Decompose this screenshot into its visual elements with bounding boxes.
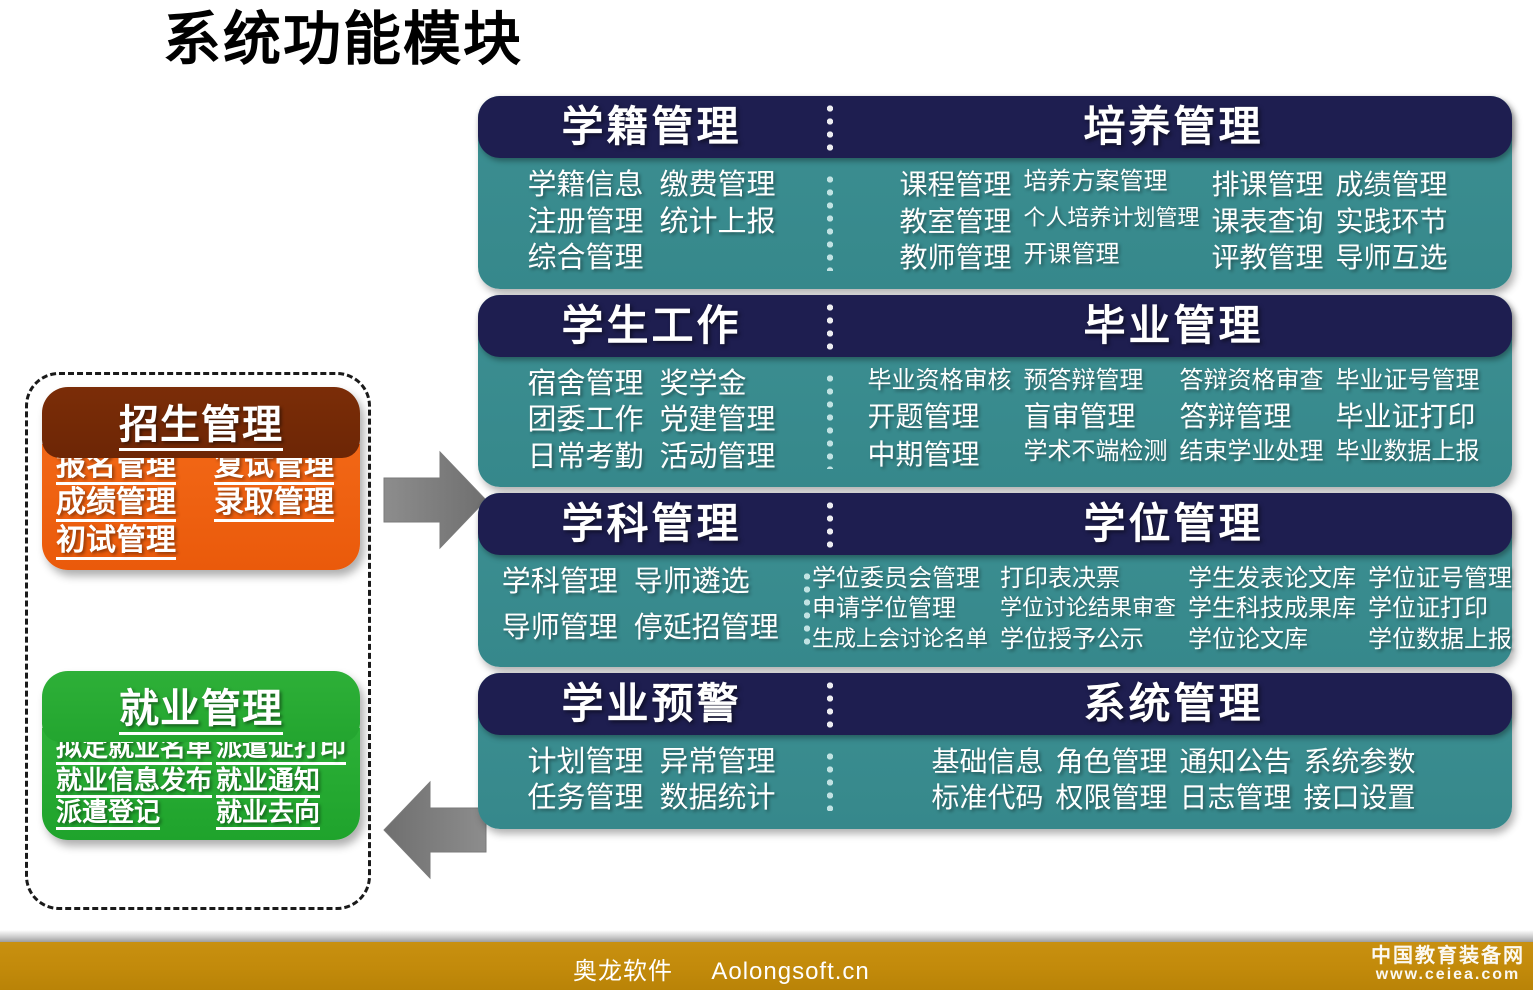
panel-body-left: 宿舍管理 奖学金 团委工作 党建管理 日常考勤 活动管理 [478,366,825,476]
module-item[interactable]: 答辩资格审查 [1180,366,1324,399]
panel-header-left[interactable]: 学科管理 [478,493,825,555]
panel-divider-dots [825,167,835,277]
module-item[interactable]: 学籍信息 [527,167,643,204]
panel-header: 学籍管理 培养管理 [478,96,1512,158]
module-item[interactable]: 学生科技成果库 [1188,594,1356,624]
module-item[interactable]: 学术不端检测 [1024,437,1168,475]
module-item[interactable]: 学位论文库 [1188,625,1356,655]
module-item[interactable]: 就业通知 [216,765,366,796]
panel-body-right: 毕业资格审核 预答辩管理 答辩资格审查 毕业证号管理 开题管理 盲审管理 答辩管… [835,366,1512,476]
module-item[interactable]: 综合管理 [527,240,643,277]
module-item[interactable]: 权限管理 [1055,780,1167,817]
panel-header: 学业预警 系统管理 [478,673,1512,735]
module-item[interactable]: 学生发表论文库 [1188,564,1356,594]
panel-body: 学籍信息 缴费管理 注册管理 统计上报 综合管理 课程管理 培养方案管理 排课管… [478,158,1512,289]
panel-row-2: 学生工作 毕业管理 宿舍管理 奖学金 团委工作 党建管理 日常考勤 活动管理 [478,295,1512,488]
module-item[interactable]: 毕业资格审核 [868,366,1012,399]
footer-company-en: Aolongsoft.cn [711,958,869,985]
left-modules-group: 招生管理 报名管理 复试管理 成绩管理 录取管理 初试管理 就业管理 拟 [25,372,371,910]
module-item[interactable]: 学位证号管理 [1368,564,1512,594]
panel-body-left: 计划管理 异常管理 任务管理 数据统计 [478,744,825,817]
module-box-recruit[interactable]: 招生管理 报名管理 复试管理 成绩管理 录取管理 初试管理 [42,387,360,570]
arrow-right-icon [382,448,488,552]
module-item[interactable]: 课表查询 [1212,204,1324,241]
panel-body-right: 基础信息 角色管理 通知公告 系统参数 标准代码 权限管理 日志管理 接口设置 [835,744,1512,817]
panel-row-1: 学籍管理 培养管理 学籍信息 缴费管理 注册管理 统计上报 综合管理 [478,96,1512,289]
watermark-en: www.ceiea.com [1371,967,1525,984]
panel-title-left: 学科管理 [561,503,741,545]
module-item[interactable]: 导师管理 [502,610,618,655]
module-item[interactable]: 宿舍管理 [527,366,643,403]
module-item[interactable]: 数据统计 [660,780,776,817]
panel-header: 学生工作 毕业管理 [478,295,1512,357]
panel-title-right: 学位管理 [1083,503,1263,545]
watermark: 中国教育装备网 www.ceiea.com [1371,946,1525,984]
panel-body: 学科管理 导师遴选 导师管理 停延招管理 学位委员会管理 打印表决票 学生发表论… [478,555,1512,667]
module-item[interactable]: 学位证打印 [1368,594,1512,624]
module-item[interactable]: 停延招管理 [634,610,779,655]
footer-company-cn: 奥龙软件 [573,959,673,985]
panel-divider-dots [825,366,835,476]
panel-title-left: 学籍管理 [561,106,741,148]
module-item[interactable]: 毕业数据上报 [1336,437,1480,475]
module-item[interactable]: 个人培养计划管理 [1023,204,1199,241]
module-item[interactable]: 学位委员会管理 [812,564,988,594]
module-item[interactable]: 标准代码 [931,780,1043,817]
module-item[interactable]: 学位授予公示 [1000,625,1176,655]
panel-title-right: 毕业管理 [1083,305,1263,347]
module-item[interactable]: 系统参数 [1304,744,1416,781]
module-item[interactable]: 实践环节 [1336,204,1448,241]
panel-divider-dots [825,673,835,735]
module-box-recruit-title: 招生管理 [42,387,360,458]
module-item[interactable]: 排课管理 [1212,167,1324,204]
panel-body-left: 学籍信息 缴费管理 注册管理 统计上报 综合管理 [478,167,825,277]
module-item[interactable]: 注册管理 [527,204,643,241]
module-item[interactable]: 导师互选 [1336,240,1448,277]
panel-body: 计划管理 异常管理 任务管理 数据统计 基础信息 角色管理 通知公告 系统参数 … [478,735,1512,829]
panel-title-right: 培养管理 [1083,106,1263,148]
module-box-employment[interactable]: 就业管理 拟定就业名单 派遣证打印 就业信息发布 就业通知 派遣登记 就业去向 [42,671,360,840]
module-item[interactable]: 缴费管理 [660,167,776,204]
module-item[interactable]: 答辩管理 [1180,399,1324,437]
module-item[interactable]: 培养方案管理 [1023,167,1199,204]
module-item[interactable]: 预答辩管理 [1024,366,1168,399]
diagram-root: 系统功能模块 招生管理 报名管理 复试管理 成绩管理 录取管理 初试管理 [0,0,1533,990]
module-item[interactable]: 活动管理 [660,439,776,476]
module-item[interactable]: 就业信息发布 [56,765,206,796]
module-panels: 学籍管理 培养管理 学籍信息 缴费管理 注册管理 统计上报 综合管理 [478,96,1512,835]
panel-row-4: 学业预警 系统管理 计划管理 异常管理 任务管理 数据统计 [478,673,1512,829]
module-item[interactable]: 开题管理 [868,399,1012,437]
module-box-recruit-body: 报名管理 复试管理 成绩管理 录取管理 初试管理 [42,444,360,570]
watermark-cn: 中国教育装备网 [1371,946,1525,967]
module-box-employment-body: 拟定就业名单 派遣证打印 就业信息发布 就业通知 派遣登记 就业去向 [42,728,360,840]
module-item[interactable]: 接口设置 [1304,780,1416,817]
module-item[interactable]: 通知公告 [1180,744,1292,781]
module-item[interactable]: 导师遴选 [634,564,779,609]
module-item[interactable]: 学位数据上报 [1368,625,1512,655]
panel-divider-dots [825,295,835,357]
module-item[interactable]: 学位讨论结果审查 [1000,594,1176,624]
panel-divider-dots [803,564,812,655]
module-item[interactable]: 开课管理 [1023,240,1199,277]
module-item[interactable]: 就业去向 [216,797,366,828]
panel-header-right[interactable]: 毕业管理 [835,295,1512,357]
panel-title-left: 学业预警 [561,683,741,725]
module-item[interactable]: 计划管理 [527,744,643,781]
module-item[interactable]: 学科管理 [502,564,618,609]
module-item[interactable]: 角色管理 [1055,744,1167,781]
panel-header-right[interactable]: 系统管理 [835,673,1512,735]
module-item[interactable]: 课程管理 [899,167,1011,204]
footer-bar: 奥龙软件 Aolongsoft.cn 中国教育装备网 www.ceiea.com [0,942,1533,990]
panel-body: 宿舍管理 奖学金 团委工作 党建管理 日常考勤 活动管理 毕业资格审核 预答辩管… [478,357,1512,488]
footer-separator [0,930,1533,942]
module-item[interactable]: 教师管理 [899,240,1011,277]
module-item[interactable]: 异常管理 [660,744,776,781]
panel-divider-dots [825,96,835,158]
panel-header-right[interactable]: 培养管理 [835,96,1512,158]
panel-divider-dots [825,493,835,555]
panel-body-right: 学位委员会管理 打印表决票 学生发表论文库 学位证号管理 申请学位管理 学位讨论… [812,564,1512,655]
module-item[interactable]: 初试管理 [56,523,204,558]
module-item[interactable]: 毕业证号管理 [1336,366,1480,399]
module-item[interactable]: 结束学业处理 [1180,437,1324,475]
module-item[interactable]: 党建管理 [660,402,776,439]
module-item[interactable]: 基础信息 [931,744,1043,781]
module-item[interactable]: 成绩管理 [56,485,204,520]
module-item[interactable]: 成绩管理 [1336,167,1448,204]
module-item[interactable]: 申请学位管理 [812,594,988,624]
module-item[interactable]: 派遣登记 [56,797,206,828]
panel-header-left[interactable]: 学业预警 [478,673,825,735]
panel-divider-dots [825,744,835,817]
module-item[interactable]: 毕业证打印 [1336,399,1480,437]
panel-header-right[interactable]: 学位管理 [835,493,1512,555]
module-item[interactable]: 录取管理 [214,485,362,520]
panel-row-3: 学科管理 学位管理 学科管理 导师遴选 导师管理 停延招管理 [478,493,1512,667]
panel-header-left[interactable]: 学籍管理 [478,96,825,158]
module-item-empty [660,240,776,277]
panel-body-right: 课程管理 培养方案管理 排课管理 成绩管理 教室管理 个人培养计划管理 课表查询… [835,167,1512,277]
page-title: 系统功能模块 [163,4,523,77]
panel-title-left: 学生工作 [561,305,741,347]
module-item[interactable]: 打印表决票 [1000,564,1176,594]
module-item[interactable]: 统计上报 [660,204,776,241]
module-item[interactable]: 评教管理 [1212,240,1324,277]
module-item[interactable]: 盲审管理 [1024,399,1168,437]
module-box-employment-title: 就业管理 [42,671,360,742]
panel-body-left: 学科管理 导师遴选 导师管理 停延招管理 [478,564,803,655]
panel-header-left[interactable]: 学生工作 [478,295,825,357]
footer-company: 奥龙软件 Aolongsoft.cn [573,951,870,986]
panel-header: 学科管理 学位管理 [478,493,1512,555]
module-item[interactable]: 团委工作 [527,402,643,439]
module-item[interactable]: 日志管理 [1180,780,1292,817]
module-item[interactable]: 任务管理 [527,780,643,817]
module-item[interactable]: 中期管理 [868,437,1012,475]
module-item[interactable]: 教室管理 [899,204,1011,241]
arrow-left-icon [382,778,488,882]
module-item[interactable]: 奖学金 [660,366,776,403]
module-item[interactable]: 日常考勤 [527,439,643,476]
module-item[interactable]: 生成上会讨论名单 [812,625,988,655]
panel-title-right: 系统管理 [1083,683,1263,725]
module-item-empty [214,523,362,558]
